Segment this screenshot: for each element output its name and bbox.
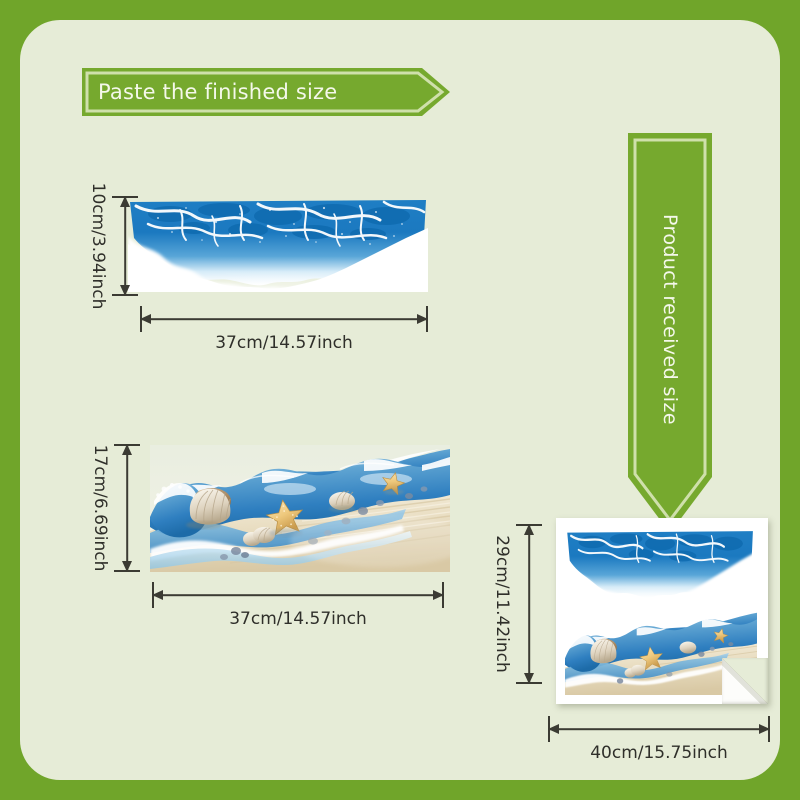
arrow-right-icon — [433, 590, 444, 600]
arrow-up-icon — [120, 196, 130, 207]
dimension-beach-strip-width-label: 37cm/14.57inch — [229, 609, 367, 629]
banner-paste-finished-size-label: Paste the finished size — [98, 68, 337, 116]
arrow-right-icon — [417, 314, 428, 324]
dimension-beach-strip-height: 17cm/6.69inch — [112, 444, 142, 572]
arrow-left-icon — [140, 314, 151, 324]
dimension-wave-strip-height: 10cm/3.94inch — [110, 196, 140, 296]
dimension-wave-strip-height-label: 10cm/3.94inch — [88, 183, 108, 310]
product-sheet — [556, 518, 768, 704]
arrow-right-icon — [759, 724, 770, 734]
dimension-line — [140, 318, 428, 320]
arrow-down-icon — [122, 561, 132, 572]
arrow-up-icon — [524, 524, 534, 535]
beach-strip-image — [150, 445, 450, 572]
dimension-beach-strip-width: 37cm/14.57inch — [152, 582, 444, 608]
wave-strip-artwork — [128, 196, 428, 292]
dimension-product-sheet-width: 40cm/15.75inch — [548, 716, 770, 742]
dimension-beach-strip-height-label: 17cm/6.69inch — [90, 445, 110, 572]
dimension-line — [528, 524, 530, 684]
arrow-left-icon — [548, 724, 559, 734]
arrow-down-icon — [524, 673, 534, 684]
banner-product-received-size: Product received size — [628, 133, 712, 533]
dimension-line — [124, 196, 126, 296]
wave-strip-image — [128, 196, 428, 292]
outer-green-frame: Paste the finished size Product received… — [0, 0, 800, 800]
dimension-wave-strip-width: 37cm/14.57inch — [140, 306, 428, 332]
sheet-wave-sticker — [566, 528, 754, 603]
banner-paste-finished-size: Paste the finished size — [82, 68, 450, 116]
dimension-line — [126, 444, 128, 572]
sheet-corner-curl-shadow — [722, 658, 768, 704]
content-panel: Paste the finished size Product received… — [20, 20, 780, 780]
banner-product-received-size-label: Product received size — [628, 133, 712, 505]
beach-strip-artwork — [150, 445, 450, 572]
arrow-up-icon — [122, 444, 132, 455]
dimension-product-sheet-height: 29cm/11.42inch — [514, 524, 544, 684]
dimension-wave-strip-width-label: 37cm/14.57inch — [215, 333, 353, 353]
arrow-down-icon — [120, 285, 130, 296]
dimension-line — [152, 594, 444, 596]
dimension-product-sheet-height-label: 29cm/11.42inch — [492, 535, 512, 673]
arrow-left-icon — [152, 590, 163, 600]
dimension-line — [548, 728, 770, 730]
dimension-product-sheet-width-label: 40cm/15.75inch — [590, 743, 728, 763]
